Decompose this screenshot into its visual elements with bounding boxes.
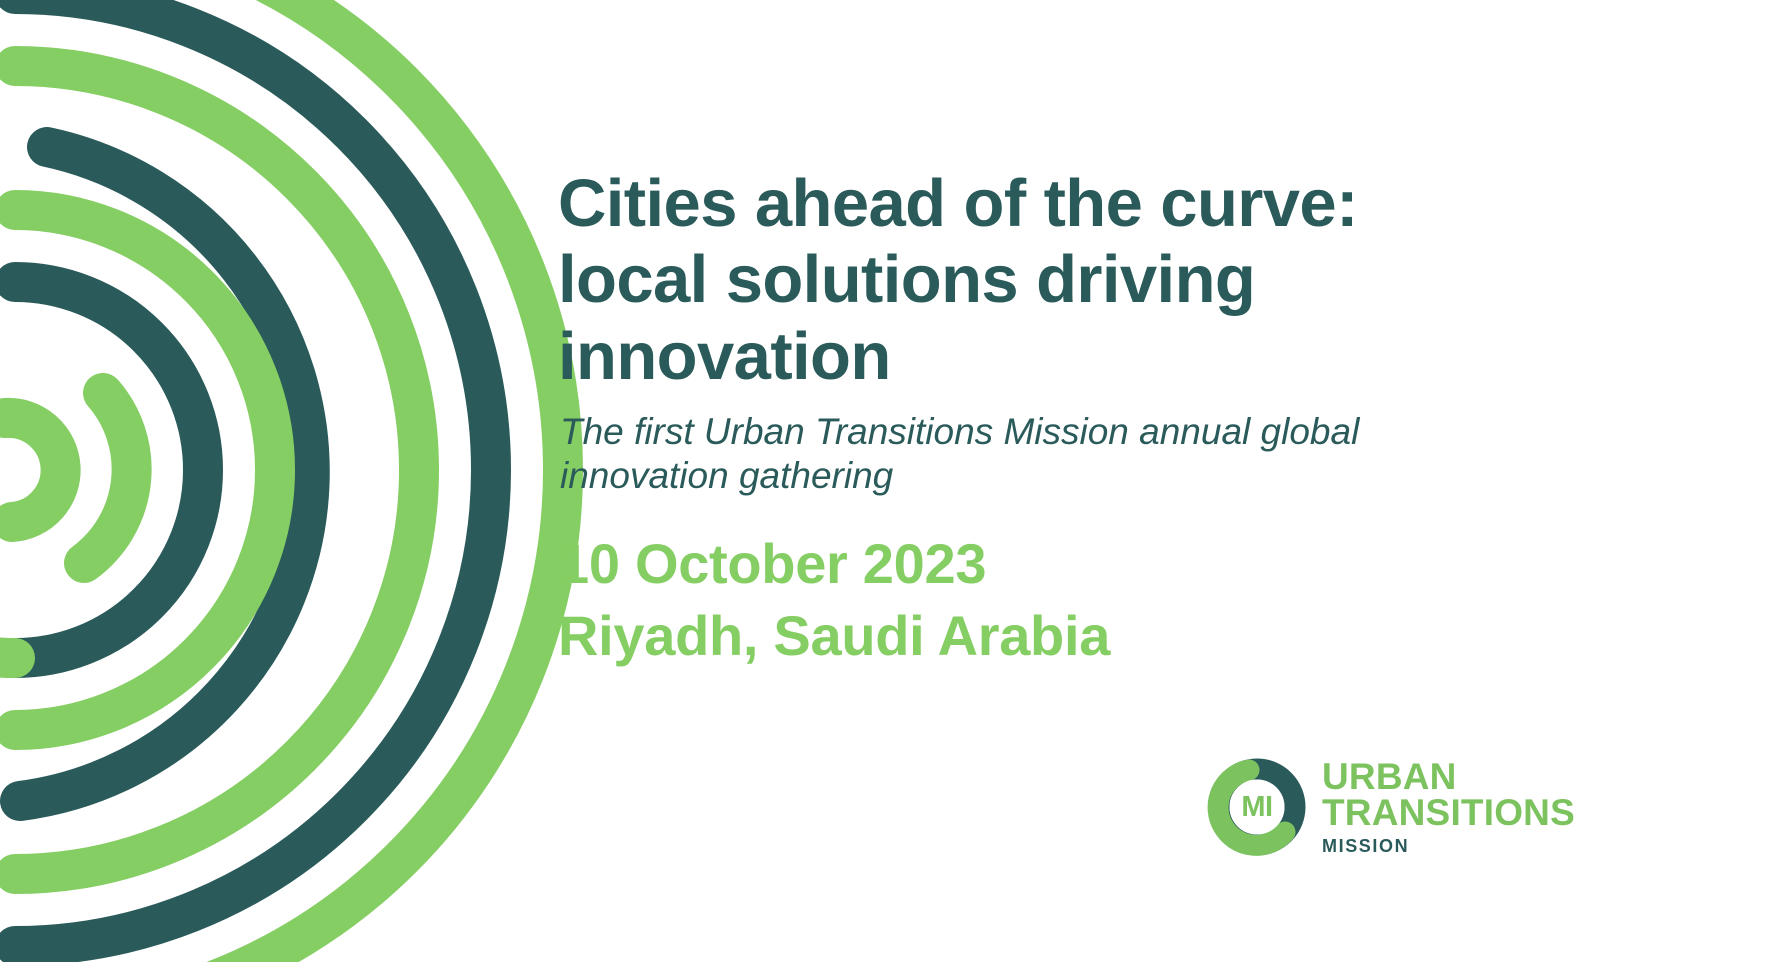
spiral-arc-ring7-green <box>84 393 132 563</box>
subtitle-line-1: The first Urban Transitions Mission annu… <box>560 410 1440 454</box>
concentric-spiral-arcs-graphic <box>0 0 620 962</box>
title-line-2: local solutions driving <box>558 242 1438 318</box>
subtitle-line-2: innovation gathering <box>560 454 1440 498</box>
event-announcement-slide: Cities ahead of the curve: local solutio… <box>0 0 1777 962</box>
spiral-arc-tail-green <box>0 643 15 658</box>
spiral-arcs-svg <box>0 0 620 962</box>
spiral-arc-ring8-green-stub <box>5 418 61 522</box>
urban-transitions-mission-logo: MI URBAN TRANSITIONS MISSION <box>1207 752 1777 862</box>
logo-wordmark: URBAN TRANSITIONS MISSION <box>1322 757 1575 858</box>
logo-inner-disc <box>1230 780 1285 835</box>
event-location: Riyadh, Saudi Arabia <box>558 600 1438 672</box>
event-details: 10 October 2023 Riyadh, Saudi Arabia <box>558 528 1438 671</box>
wordmark-urban: URBAN <box>1322 759 1575 795</box>
page-title: Cities ahead of the curve: local solutio… <box>558 166 1438 395</box>
wordmark-transitions: TRANSITIONS <box>1322 795 1575 831</box>
wordmark-mission: MISSION <box>1322 836 1575 857</box>
title-line-1: Cities ahead of the curve: <box>558 166 1438 242</box>
event-date: 10 October 2023 <box>558 528 1438 600</box>
mi-circle-logo-icon: MI <box>1207 757 1307 857</box>
title-line-3: innovation <box>558 319 1438 395</box>
mi-circle-icon-svg <box>1207 757 1307 857</box>
event-subtitle: The first Urban Transitions Mission annu… <box>560 410 1440 499</box>
